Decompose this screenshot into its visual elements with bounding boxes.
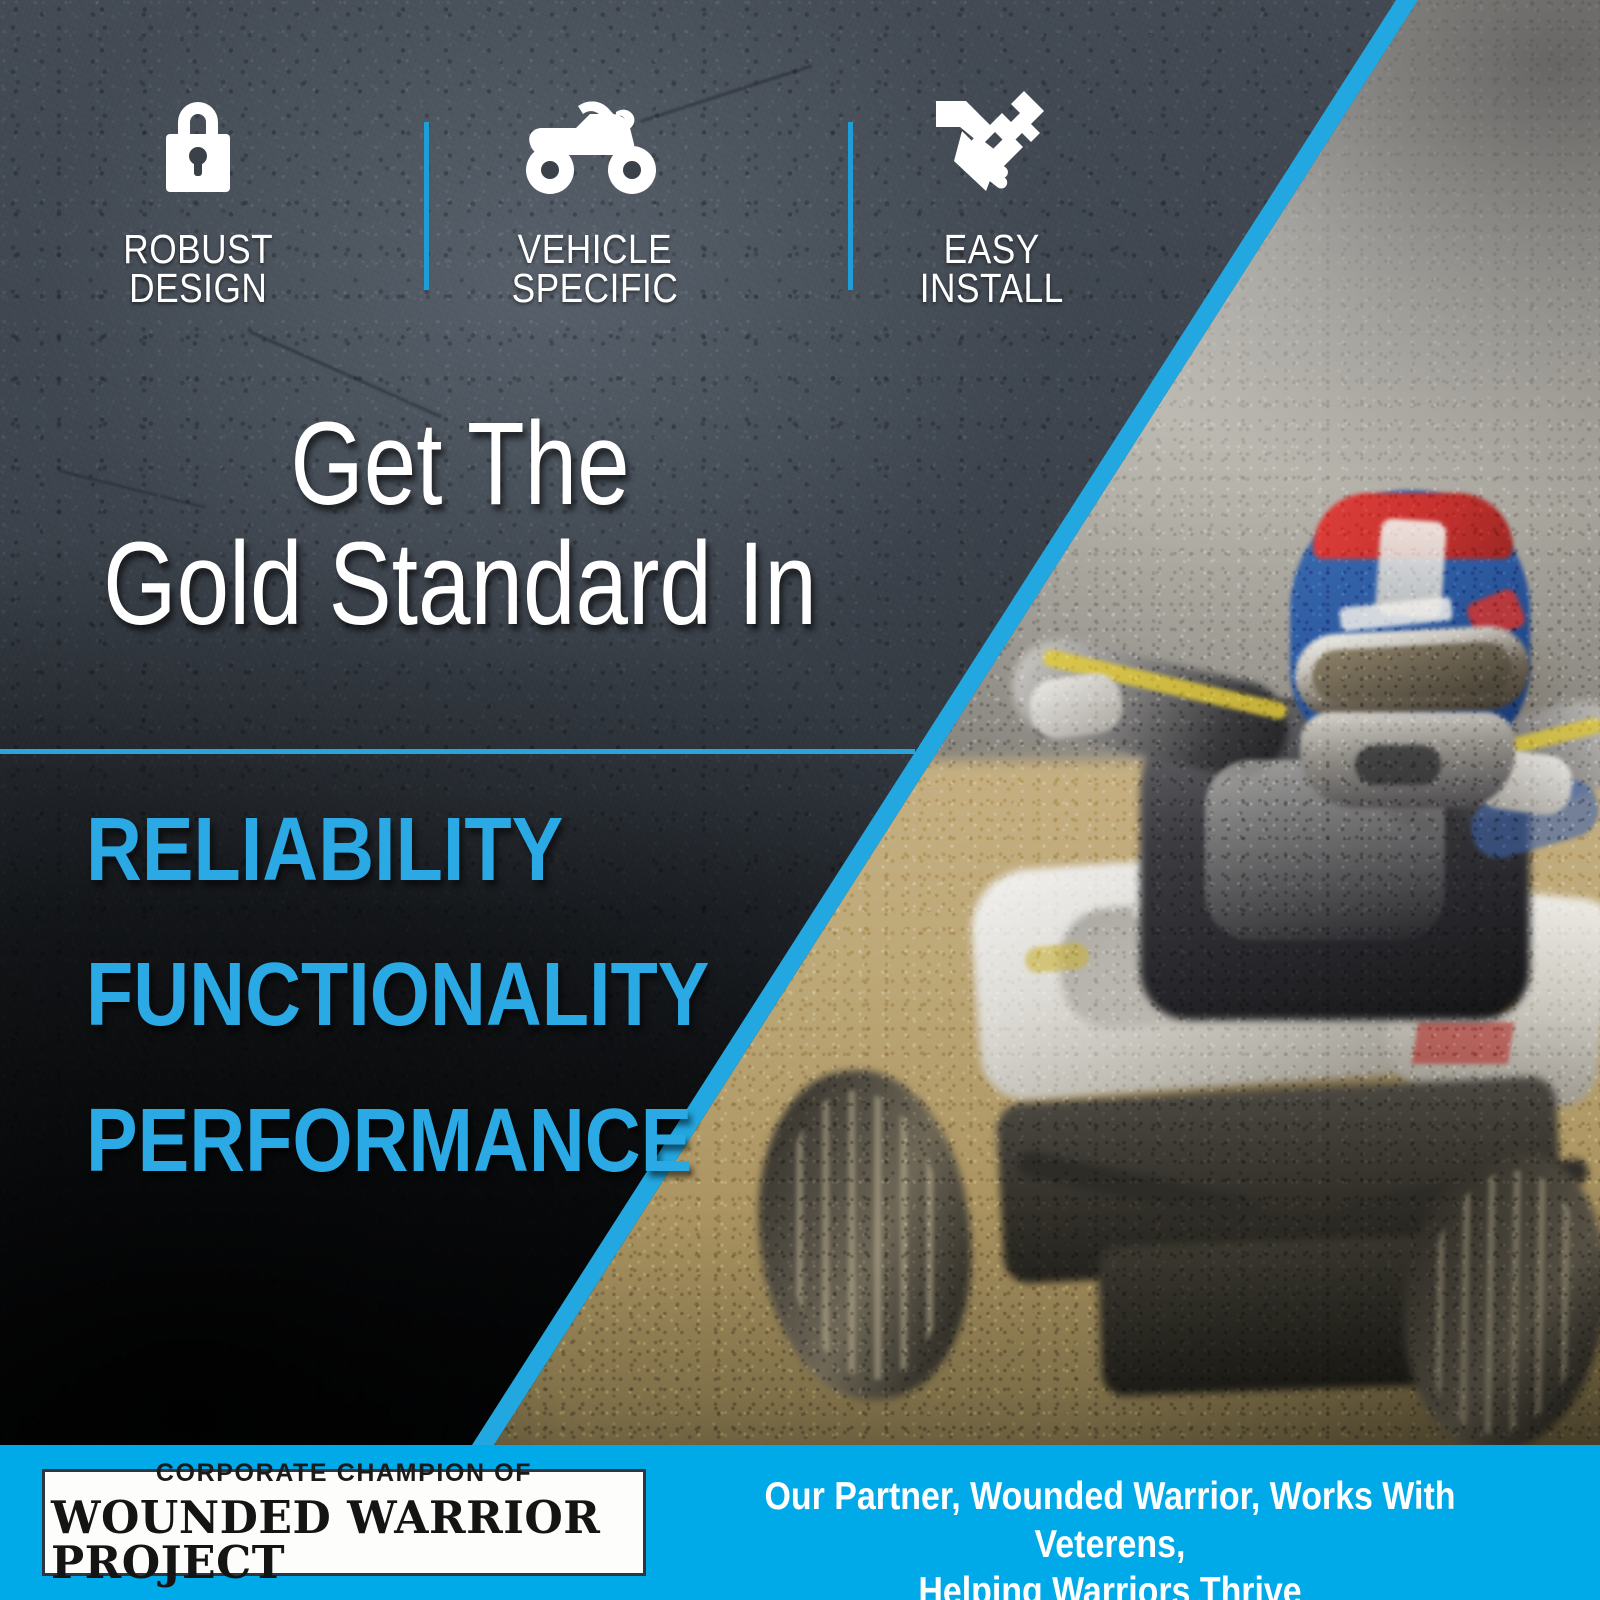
feature-label: ROBUST DESIGN (123, 230, 273, 307)
footer-tagline: Our Partner, Wounded Warrior, Works With… (660, 1473, 1560, 1600)
logo-main-text: WOUNDED WARRIOR PROJECT (51, 1495, 637, 1585)
keyword-reliability: RELIABILITY (86, 805, 563, 895)
lock-icon (150, 86, 246, 206)
footer-tagline-line2: Helping Warriors Thrive (719, 1568, 1502, 1600)
feature-divider (424, 122, 429, 290)
feature-row: ROBUST DESIGN VEHICLE SPECIFIC (0, 86, 1190, 346)
feature-vehicle-specific: VEHICLE SPECIFIC (397, 86, 794, 346)
wounded-warrior-project-logo: CORPORATE CHAMPION OF WOUNDED WARRIOR PR… (42, 1469, 646, 1576)
page-title: Get The Gold Standard In (0, 404, 920, 645)
feature-label-line2: DESIGN (129, 265, 267, 311)
keyword-functionality: FUNCTIONALITY (86, 950, 709, 1040)
feature-label-line2: INSTALL (920, 265, 1064, 311)
feature-robust-design: ROBUST DESIGN (0, 86, 397, 346)
footer-tagline-line1: Our Partner, Wounded Warrior, Works With… (719, 1473, 1502, 1568)
footer-bar: CORPORATE CHAMPION OF WOUNDED WARRIOR PR… (0, 1445, 1600, 1600)
headline-underline (0, 749, 915, 754)
keyword-performance: PERFORMANCE (86, 1096, 692, 1186)
feature-label-line2: SPECIFIC (512, 265, 679, 311)
logo-top-text: CORPORATE CHAMPION OF (156, 1461, 532, 1486)
feature-divider (848, 122, 853, 290)
promo-banner: ROBUST DESIGN VEHICLE SPECIFIC (0, 0, 1600, 1600)
atv-quad-bike-icon (520, 86, 670, 206)
headline-line2: Gold Standard In (92, 524, 828, 644)
headline-line1: Get The (92, 404, 828, 524)
feature-label: VEHICLE SPECIFIC (512, 230, 679, 307)
feature-label: EASY INSTALL (920, 230, 1064, 307)
hand-wrench-icon (932, 86, 1052, 206)
